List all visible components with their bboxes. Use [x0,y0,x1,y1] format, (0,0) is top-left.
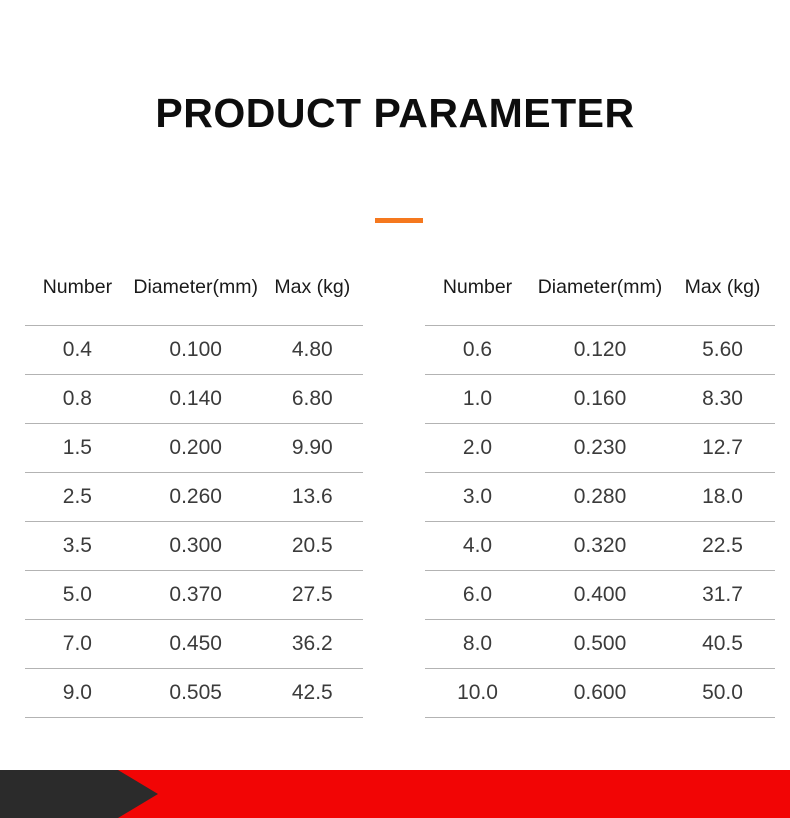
cell-diameter: 0.400 [530,571,670,620]
parameter-tables: Number Diameter(mm) Max (kg) 0.40.1004.8… [0,276,790,716]
cell-max: 22.5 [670,522,775,571]
column-header-max: Max (kg) [262,276,363,326]
cell-diameter: 0.200 [130,424,262,473]
table-row: 4.00.32022.5 [425,522,775,571]
table-row: 6.00.40031.7 [425,571,775,620]
column-header-number: Number [425,276,530,326]
chevron-arrow-shape [0,770,158,818]
cell-number: 7.0 [25,620,130,669]
table-row: 10.00.60050.0 [425,669,775,718]
cell-number: 1.0 [425,375,530,424]
cell-max: 5.60 [670,326,775,375]
column-header-diameter: Diameter(mm) [130,276,262,326]
cell-max: 8.30 [670,375,775,424]
cell-number: 0.6 [425,326,530,375]
cell-diameter: 0.230 [530,424,670,473]
cell-number: 3.0 [425,473,530,522]
table-header-row: Number Diameter(mm) Max (kg) [25,276,363,326]
bottom-banner [0,770,790,818]
table-row: 7.00.45036.2 [25,620,363,669]
product-parameter-page: PRODUCT PARAMETER Number Diameter(mm) Ma… [0,0,790,818]
cell-max: 4.80 [262,326,363,375]
table-row: 0.40.1004.80 [25,326,363,375]
cell-diameter: 0.500 [530,620,670,669]
cell-number: 0.8 [25,375,130,424]
table-row: 8.00.50040.5 [425,620,775,669]
title-underline-divider [375,218,423,223]
cell-number: 6.0 [425,571,530,620]
cell-number: 2.0 [425,424,530,473]
cell-number: 3.5 [25,522,130,571]
cell-max: 40.5 [670,620,775,669]
cell-max: 50.0 [670,669,775,718]
column-header-max: Max (kg) [670,276,775,326]
cell-diameter: 0.370 [130,571,262,620]
cell-diameter: 0.260 [130,473,262,522]
column-header-diameter: Diameter(mm) [530,276,670,326]
cell-diameter: 0.140 [130,375,262,424]
cell-diameter: 0.320 [530,522,670,571]
cell-diameter: 0.600 [530,669,670,718]
cell-diameter: 0.100 [130,326,262,375]
cell-max: 20.5 [262,522,363,571]
cell-diameter: 0.300 [130,522,262,571]
cell-max: 9.90 [262,424,363,473]
table-row: 1.00.1608.30 [425,375,775,424]
table-row: 9.00.50542.5 [25,669,363,718]
parameter-table-right: Number Diameter(mm) Max (kg) 0.60.1205.6… [425,276,775,718]
cell-max: 31.7 [670,571,775,620]
cell-max: 18.0 [670,473,775,522]
table-row: 3.50.30020.5 [25,522,363,571]
cell-number: 8.0 [425,620,530,669]
table-row: 1.50.2009.90 [25,424,363,473]
cell-max: 12.7 [670,424,775,473]
table-row: 2.50.26013.6 [25,473,363,522]
cell-diameter: 0.160 [530,375,670,424]
table-row: 0.80.1406.80 [25,375,363,424]
cell-number: 10.0 [425,669,530,718]
parameter-table-left: Number Diameter(mm) Max (kg) 0.40.1004.8… [25,276,363,718]
cell-number: 9.0 [25,669,130,718]
table-row: 2.00.23012.7 [425,424,775,473]
cell-diameter: 0.120 [530,326,670,375]
cell-max: 6.80 [262,375,363,424]
column-header-number: Number [25,276,130,326]
cell-max: 27.5 [262,571,363,620]
table-header-row: Number Diameter(mm) Max (kg) [425,276,775,326]
page-title: PRODUCT PARAMETER [0,88,790,138]
cell-max: 42.5 [262,669,363,718]
cell-max: 36.2 [262,620,363,669]
table-row: 3.00.28018.0 [425,473,775,522]
table-body-left: 0.40.1004.800.80.1406.801.50.2009.902.50… [25,326,363,718]
cell-max: 13.6 [262,473,363,522]
cell-number: 0.4 [25,326,130,375]
cell-diameter: 0.280 [530,473,670,522]
table-row: 0.60.1205.60 [425,326,775,375]
cell-number: 4.0 [425,522,530,571]
cell-number: 2.5 [25,473,130,522]
table-row: 5.00.37027.5 [25,571,363,620]
cell-number: 1.5 [25,424,130,473]
cell-diameter: 0.505 [130,669,262,718]
cell-diameter: 0.450 [130,620,262,669]
table-body-right: 0.60.1205.601.00.1608.302.00.23012.73.00… [425,326,775,718]
cell-number: 5.0 [25,571,130,620]
